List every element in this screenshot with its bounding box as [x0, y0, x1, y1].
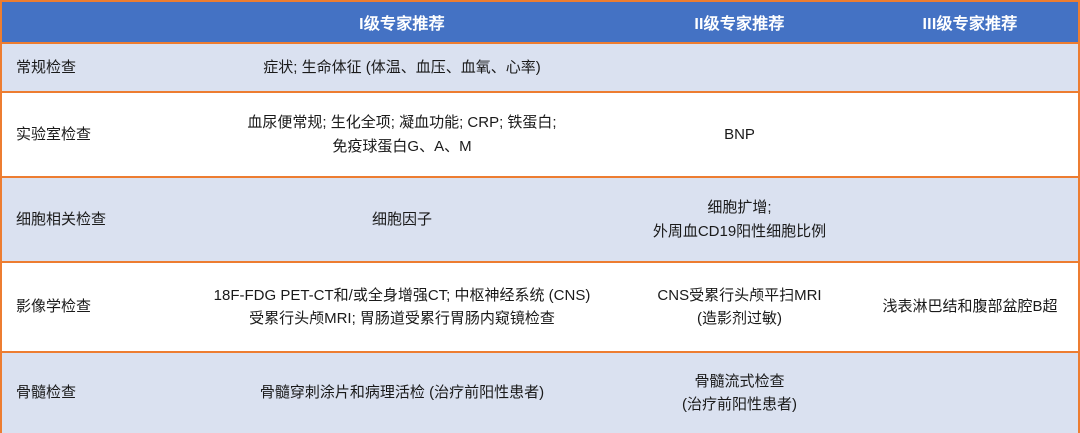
cell-cellrelated-level-3 [862, 177, 1078, 262]
cell-routine-level-1: 症状; 生命体征 (体温、血压、血氧、心率) [187, 43, 617, 92]
cell-lab-level-2: BNP [617, 92, 862, 177]
table-row: 细胞相关检查 细胞因子 细胞扩增; 外周血CD19阳性细胞比例 [2, 177, 1078, 262]
row-header-lab-exam: 实验室检查 [2, 92, 187, 177]
table-body: 常规检查 症状; 生命体征 (体温、血压、血氧、心率) 实验室检查 血尿便常规;… [2, 43, 1078, 433]
column-header-level-1: I级专家推荐 [187, 2, 617, 43]
cell-bonemarrow-level-3 [862, 352, 1078, 433]
exam-recommendation-table-container: I级专家推荐 II级专家推荐 III级专家推荐 常规检查 症状; 生命体征 (体… [0, 0, 1080, 433]
row-header-cell-related-exam: 细胞相关检查 [2, 177, 187, 262]
column-header-level-3: III级专家推荐 [862, 2, 1078, 43]
exam-recommendation-table: I级专家推荐 II级专家推荐 III级专家推荐 常规检查 症状; 生命体征 (体… [2, 2, 1078, 433]
row-header-imaging-exam: 影像学检查 [2, 262, 187, 352]
header-row: I级专家推荐 II级专家推荐 III级专家推荐 [2, 2, 1078, 43]
table-row: 常规检查 症状; 生命体征 (体温、血压、血氧、心率) [2, 43, 1078, 92]
table-row: 实验室检查 血尿便常规; 生化全项; 凝血功能; CRP; 铁蛋白; 免疫球蛋白… [2, 92, 1078, 177]
cell-bonemarrow-level-2: 骨髓流式检查 (治疗前阳性患者) [617, 352, 862, 433]
row-header-routine-exam: 常规检查 [2, 43, 187, 92]
table-header: I级专家推荐 II级专家推荐 III级专家推荐 [2, 2, 1078, 43]
cell-cellrelated-level-2: 细胞扩增; 外周血CD19阳性细胞比例 [617, 177, 862, 262]
cell-lab-level-1: 血尿便常规; 生化全项; 凝血功能; CRP; 铁蛋白; 免疫球蛋白G、A、M [187, 92, 617, 177]
cell-cellrelated-level-1: 细胞因子 [187, 177, 617, 262]
table-row: 影像学检查 18F-FDG PET-CT和/或全身增强CT; 中枢神经系统 (C… [2, 262, 1078, 352]
cell-bonemarrow-level-1: 骨髓穿刺涂片和病理活检 (治疗前阳性患者) [187, 352, 617, 433]
cell-imaging-level-2: CNS受累行头颅平扫MRI (造影剂过敏) [617, 262, 862, 352]
cell-routine-level-2 [617, 43, 862, 92]
column-header-category [2, 2, 187, 43]
table-row: 骨髓检查 骨髓穿刺涂片和病理活检 (治疗前阳性患者) 骨髓流式检查 (治疗前阳性… [2, 352, 1078, 433]
cell-routine-level-3 [862, 43, 1078, 92]
cell-imaging-level-3: 浅表淋巴结和腹部盆腔B超 [862, 262, 1078, 352]
row-header-bone-marrow-exam: 骨髓检查 [2, 352, 187, 433]
column-header-level-2: II级专家推荐 [617, 2, 862, 43]
cell-lab-level-3 [862, 92, 1078, 177]
cell-imaging-level-1: 18F-FDG PET-CT和/或全身增强CT; 中枢神经系统 (CNS) 受累… [187, 262, 617, 352]
